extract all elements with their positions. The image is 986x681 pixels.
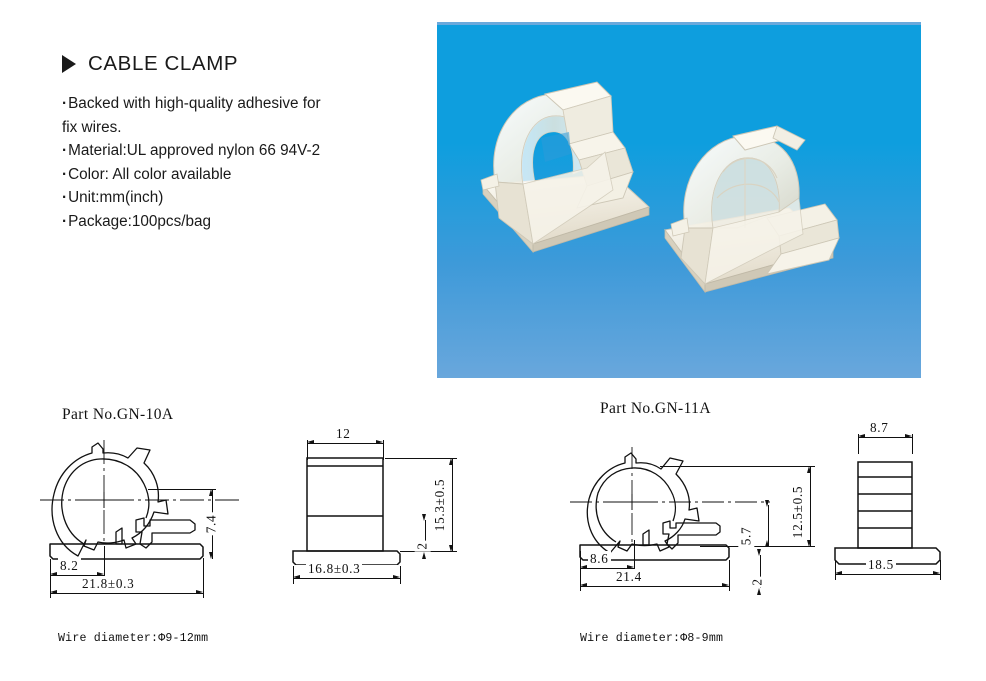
gn11a-side-arrow-base-right (933, 571, 940, 575)
datasheet-page: CABLE CLAMP Backed with high-quality adh… (0, 0, 986, 681)
gn10a-side-ext-12-right (383, 440, 384, 460)
gn11a-wire-diameter-caption: Wire diameter:Φ8-9mm (580, 632, 723, 645)
gn11a-side-arrow-8p7-left (858, 434, 865, 438)
gn11a-side-view-drawing (830, 448, 970, 566)
spec-item-package: Package:100pcs/bag (62, 210, 412, 234)
gn10a-dim-height: 7.4 (203, 513, 219, 536)
gn10a-side-dimline-height (452, 458, 453, 552)
gn10a-ext-8p2-left (50, 559, 51, 581)
gn11a-ext-h-top (660, 466, 815, 467)
gn10a-side-arrow-h-down (449, 545, 453, 552)
gn11a-ext-h-bottom (700, 546, 815, 547)
gn10a-side-dimline-12 (307, 443, 383, 444)
product-title-row: CABLE CLAMP (62, 52, 412, 76)
gn10a-front-view-drawing (40, 440, 240, 565)
gn10a-side-arrow-12-left (307, 440, 314, 444)
gn10a-side-arrow-base-left (293, 575, 300, 579)
gn11a-dimline-total-width (580, 586, 729, 587)
gn11a-arrow-2-up (757, 588, 761, 595)
part-label-gn10a: Part No.GN-10A (62, 406, 174, 424)
triangle-right-icon (62, 55, 76, 73)
gn11a-arrow-5p7-up (765, 540, 769, 547)
gn10a-side-dimline-base (293, 578, 400, 579)
gn10a-side-dim-top-width: 12 (334, 426, 353, 442)
gn10a-dimline-total (50, 593, 203, 594)
gn10a-side-arrow-base-right (393, 575, 400, 579)
gn11a-dim-total-width: 21.4 (614, 569, 644, 585)
gn11a-dim-inner-width: 8.6 (588, 551, 611, 567)
gn10a-side-dim-base-thickness: 2 (415, 540, 431, 551)
gn11a-ext-total-right (729, 560, 730, 591)
spec-list: Backed with high-quality adhesive for fi… (62, 92, 412, 233)
gn10a-ext-h-top (148, 489, 216, 490)
gn10a-side-arrow-h-up (449, 458, 453, 465)
product-photo-artwork (437, 22, 921, 378)
gn10a-arrow-8p2-left (50, 572, 57, 576)
gn11a-side-dim-base-width: 18.5 (866, 557, 896, 573)
photo-top-edge (437, 22, 921, 25)
spec-item-color: Color: All color available (62, 163, 412, 187)
gn11a-side-ext-base-right (940, 560, 941, 580)
gn10a-side-ext-h-top (385, 458, 457, 459)
gn11a-arrow-th-up (807, 466, 811, 473)
gn10a-side-arrow-12-right (376, 440, 383, 444)
gn11a-side-ext-base-left (835, 560, 836, 580)
gn10a-dim-inner-width: 8.2 (58, 558, 81, 574)
gn10a-side-arrow-2-up (422, 552, 426, 559)
photo-clamp-right (665, 126, 839, 292)
gn10a-side-arrow-2-down (422, 514, 426, 521)
gn11a-arrow-2-down (757, 549, 761, 556)
gn10a-side-dim-base-width: 16.8±0.3 (306, 561, 362, 577)
gn10a-dim-total-width: 21.8±0.3 (80, 576, 136, 592)
gn10a-side-ext-base-right (400, 566, 401, 584)
gn11a-side-arrow-8p7-right (905, 434, 912, 438)
gn11a-side-arrow-base-left (835, 571, 842, 575)
gn10a-ext-total-left (50, 580, 51, 598)
gn11a-arrow-total-right (722, 583, 729, 587)
gn10a-ext-total-right (203, 566, 204, 598)
gn11a-arrow-8p6-left (580, 565, 587, 569)
part-label-gn11a: Part No.GN-11A (600, 400, 711, 418)
gn11a-dimline-total-height (810, 466, 811, 547)
gn11a-side-ext-8p7-right (912, 434, 913, 454)
gn11a-ext-8p6-left (580, 551, 581, 573)
gn11a-dim-inner-height: 5.7 (738, 525, 754, 548)
gn11a-side-dimline-base (835, 574, 940, 575)
gn11a-side-dim-top-width: 8.7 (868, 420, 891, 436)
gn10a-arrow-total-left (50, 590, 57, 594)
spec-item-adhesive: Backed with high-quality adhesive for fi… (62, 92, 412, 139)
gn11a-arrow-th-down (807, 540, 811, 547)
photo-clamp-left (481, 82, 649, 252)
gn10a-arrow-7p4-up (209, 489, 213, 496)
spec-item-unit: Unit:mm(inch) (62, 186, 412, 210)
gn10a-arrow-total-right (196, 590, 203, 594)
gn11a-arrow-total-left (580, 583, 587, 587)
gn10a-wire-diameter-caption: Wire diameter:Φ9-12mm (58, 632, 208, 645)
gn11a-side-dimline-8p7 (858, 437, 912, 438)
gn11a-ext-total-left (580, 573, 581, 591)
page-title: CABLE CLAMP (88, 52, 238, 76)
gn10a-side-dim-height: 15.3±0.5 (432, 477, 448, 533)
gn11a-dim-base-thickness: 2 (750, 576, 766, 587)
spec-block: CABLE CLAMP Backed with high-quality adh… (62, 52, 412, 233)
gn10a-arrow-7p4-down (209, 552, 213, 559)
spec-item-material: Material:UL approved nylon 66 94V-2 (62, 139, 412, 163)
gn11a-arrow-5p7-down (765, 500, 769, 507)
gn11a-dim-total-height: 12.5±0.5 (790, 484, 806, 540)
product-photo (437, 22, 921, 378)
